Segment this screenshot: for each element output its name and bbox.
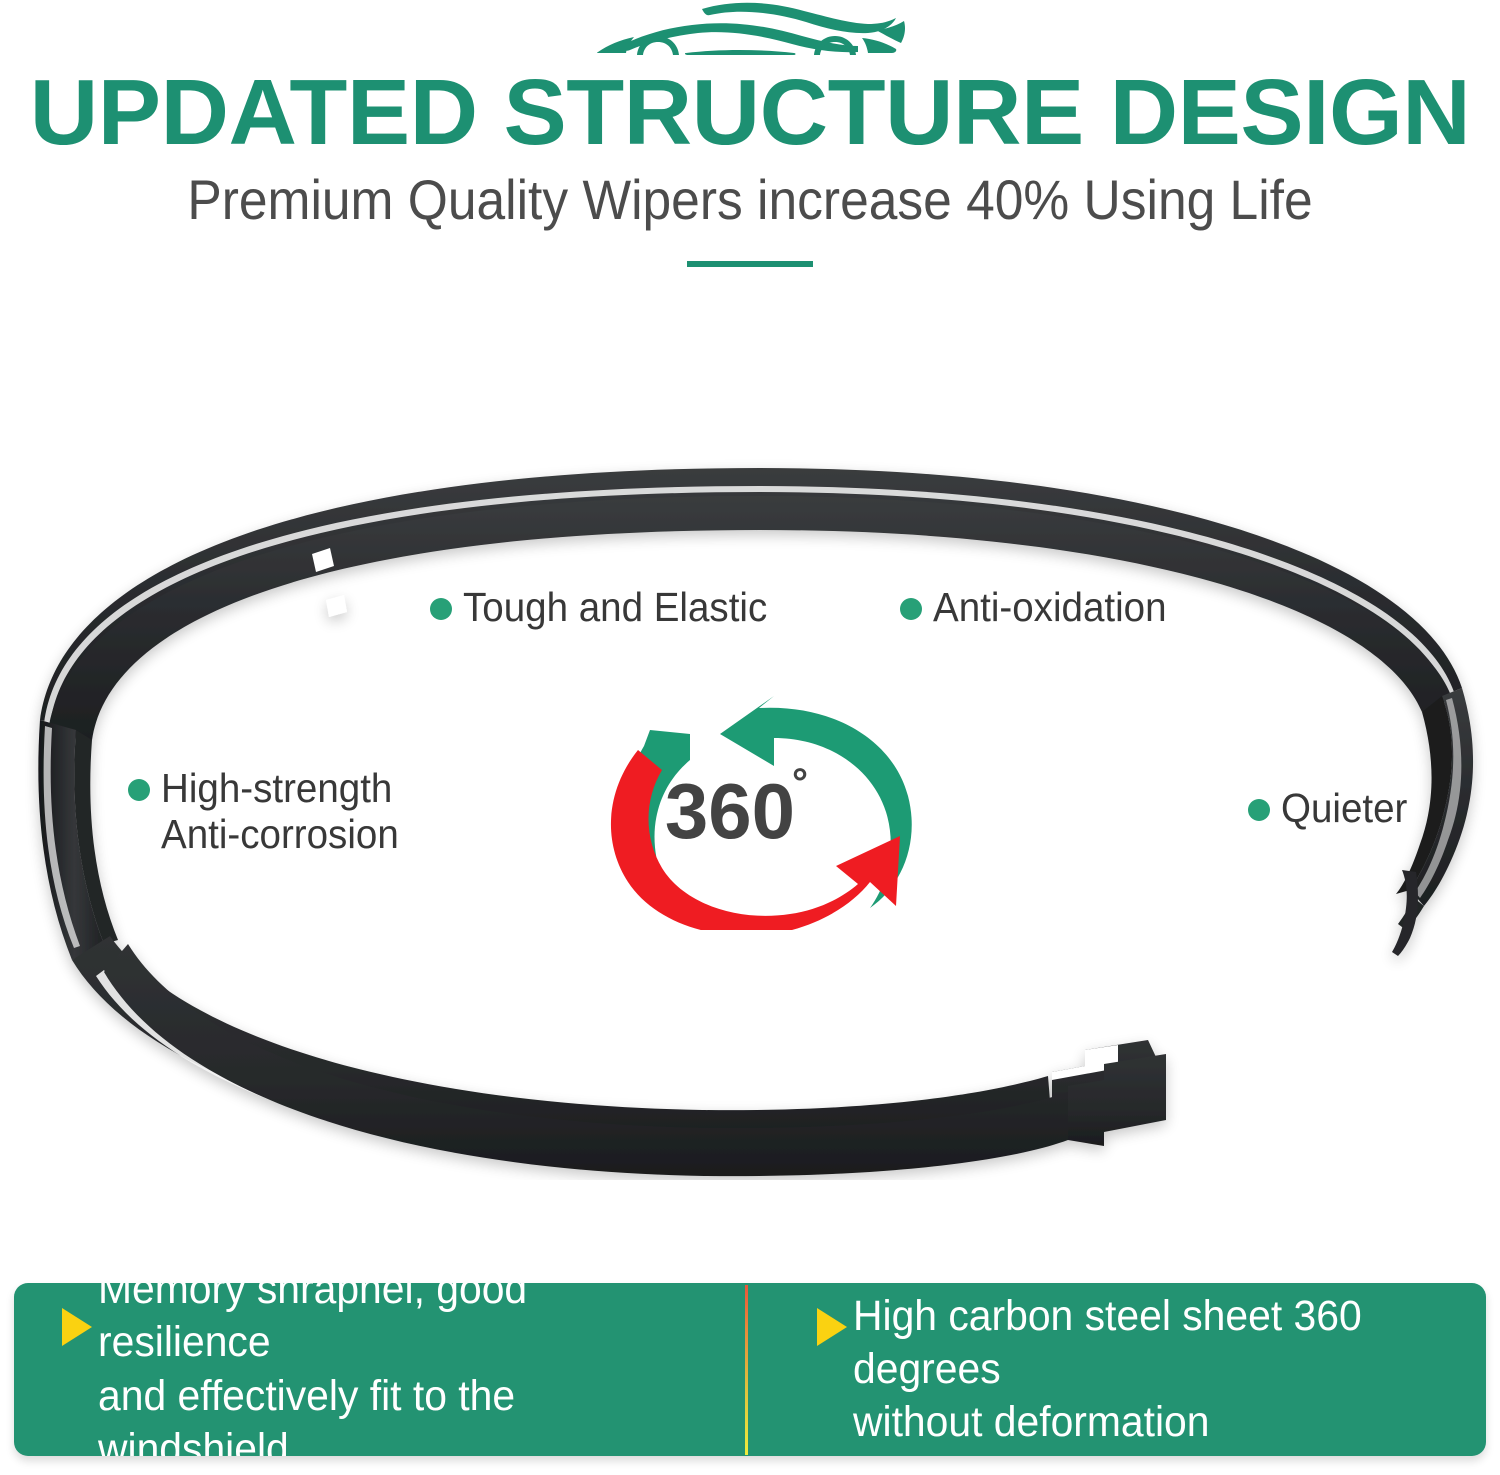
- callout-label: Anti-oxidation: [933, 585, 1167, 631]
- callout-label-line2: Anti-corrosion: [161, 812, 399, 858]
- triangle-bullet-icon: [817, 1308, 847, 1346]
- banner-high-carbon-steel: High carbon steel sheet 360 degrees with…: [745, 1283, 1486, 1456]
- banner-line2: without deformation: [853, 1396, 1445, 1449]
- callout-quieter: Quieter: [1248, 786, 1415, 832]
- bullet-dot-icon: [430, 598, 452, 620]
- car-silhouette-icon: [590, 2, 910, 64]
- bullet-dot-icon: [900, 598, 922, 620]
- header: UPDATED STRUCTURE DESIGN Premium Quality…: [0, 0, 1500, 267]
- badge-360-rotation: 360 °: [578, 690, 958, 930]
- callout-label: Quieter: [1281, 786, 1407, 832]
- badge-degree-symbol: °: [792, 761, 808, 805]
- title-divider: [687, 261, 813, 267]
- callout-anti-oxidation: Anti-oxidation: [900, 585, 1181, 631]
- callout-label-line1: High-strength: [161, 766, 399, 812]
- callout-label-block: High-strength Anti-corrosion: [161, 766, 399, 858]
- banner-text-block: Memory shrapnel, good resilience and eff…: [98, 1283, 703, 1456]
- banner-line1: High carbon steel sheet 360 degrees: [853, 1290, 1445, 1397]
- banner-text-block: High carbon steel sheet 360 degrees with…: [853, 1290, 1445, 1450]
- page-title: UPDATED STRUCTURE DESIGN: [0, 68, 1500, 156]
- banner-memory-shrapnel: Memory shrapnel, good resilience and eff…: [14, 1283, 745, 1456]
- callout-label: Tough and Elastic: [463, 585, 767, 631]
- banner-line1: Memory shrapnel, good resilience: [98, 1283, 703, 1370]
- triangle-bullet-icon: [62, 1308, 92, 1346]
- page-subtitle: Premium Quality Wipers increase 40% Usin…: [60, 172, 1440, 228]
- feature-banner-row: Memory shrapnel, good resilience and eff…: [14, 1283, 1486, 1456]
- callout-tough-and-elastic: Tough and Elastic: [430, 585, 787, 631]
- bullet-dot-icon: [1248, 799, 1270, 821]
- banner-separator: [745, 1285, 748, 1455]
- banner-line2: and effectively fit to the windshield: [98, 1370, 703, 1457]
- bullet-dot-icon: [128, 779, 150, 801]
- badge-value: 360: [665, 767, 795, 855]
- callout-high-strength-anti-corrosion: High-strength Anti-corrosion: [128, 766, 414, 858]
